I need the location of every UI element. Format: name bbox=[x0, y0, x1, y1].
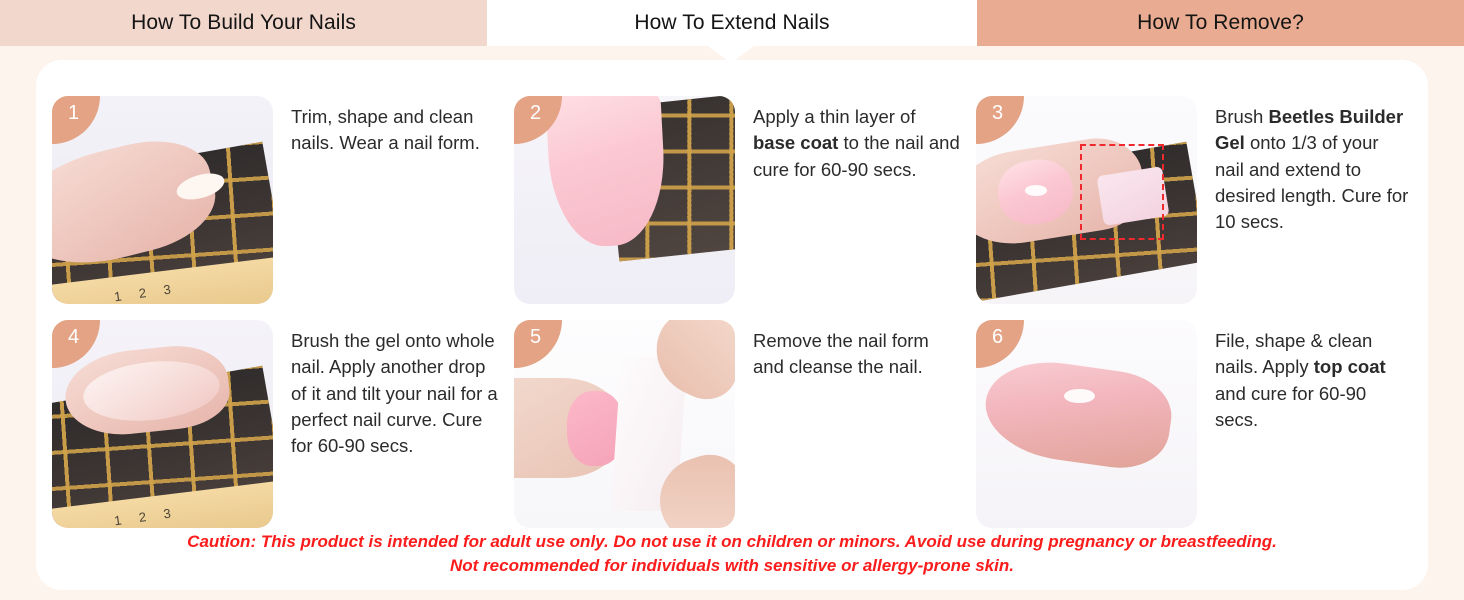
steps-grid: 1 2 3 1 Trim, shape and clean nails. Wea… bbox=[52, 96, 1412, 528]
tab-how-to-build-your-nails[interactable]: How To Build Your Nails bbox=[0, 0, 487, 46]
step-text: Remove the nail form and cleanse the nai… bbox=[753, 320, 961, 381]
tab-label: How To Extend Nails bbox=[634, 11, 829, 35]
tab-label: How To Build Your Nails bbox=[131, 11, 356, 35]
caution-line-2: Not recommended for individuals with sen… bbox=[36, 554, 1428, 578]
step-item: 1 2 3 4 Brush the gel onto whole nail. A… bbox=[52, 320, 514, 528]
caution-line-1: Caution: This product is intended for ad… bbox=[36, 530, 1428, 554]
tab-label: How To Remove? bbox=[1137, 11, 1304, 35]
highlight-dashed-box bbox=[1080, 144, 1164, 240]
step-text: File, shape & clean nails. Apply top coa… bbox=[1215, 320, 1412, 433]
step-item: 6 File, shape & clean nails. Apply top c… bbox=[976, 320, 1412, 528]
step-text: Apply a thin layer of base coat to the n… bbox=[753, 96, 961, 183]
instructions-card: 1 2 3 1 Trim, shape and clean nails. Wea… bbox=[36, 60, 1428, 590]
tab-bar: How To Build Your Nails How To Extend Na… bbox=[0, 0, 1464, 46]
step-text: Brush the gel onto whole nail. Apply ano… bbox=[291, 320, 499, 459]
step-text: Trim, shape and clean nails. Wear a nail… bbox=[291, 96, 499, 157]
step-item: 5 Remove the nail form and cleanse the n… bbox=[514, 320, 976, 528]
step-item: 1 2 3 1 Trim, shape and clean nails. Wea… bbox=[52, 96, 514, 304]
nail-shine-icon bbox=[1025, 185, 1047, 195]
finished-nail-icon bbox=[979, 353, 1176, 474]
step-text: Brush Beetles Builder Gel onto 1/3 of yo… bbox=[1215, 96, 1412, 235]
step-item: 3 Brush Beetles Builder Gel onto 1/3 of … bbox=[976, 96, 1412, 304]
tab-how-to-extend-nails[interactable]: How To Extend Nails bbox=[487, 0, 977, 46]
caution-note: Caution: This product is intended for ad… bbox=[36, 530, 1428, 578]
step-photo: 6 bbox=[976, 320, 1197, 528]
active-tab-pointer-icon bbox=[708, 46, 754, 63]
step-photo: 1 2 3 4 bbox=[52, 320, 273, 528]
tab-how-to-remove[interactable]: How To Remove? bbox=[977, 0, 1464, 46]
step-photo: 3 bbox=[976, 96, 1197, 304]
step-photo: 2 bbox=[514, 96, 735, 304]
step-item: 2 Apply a thin layer of base coat to the… bbox=[514, 96, 976, 304]
step-photo: 1 2 3 1 bbox=[52, 96, 273, 304]
step-photo: 5 bbox=[514, 320, 735, 528]
